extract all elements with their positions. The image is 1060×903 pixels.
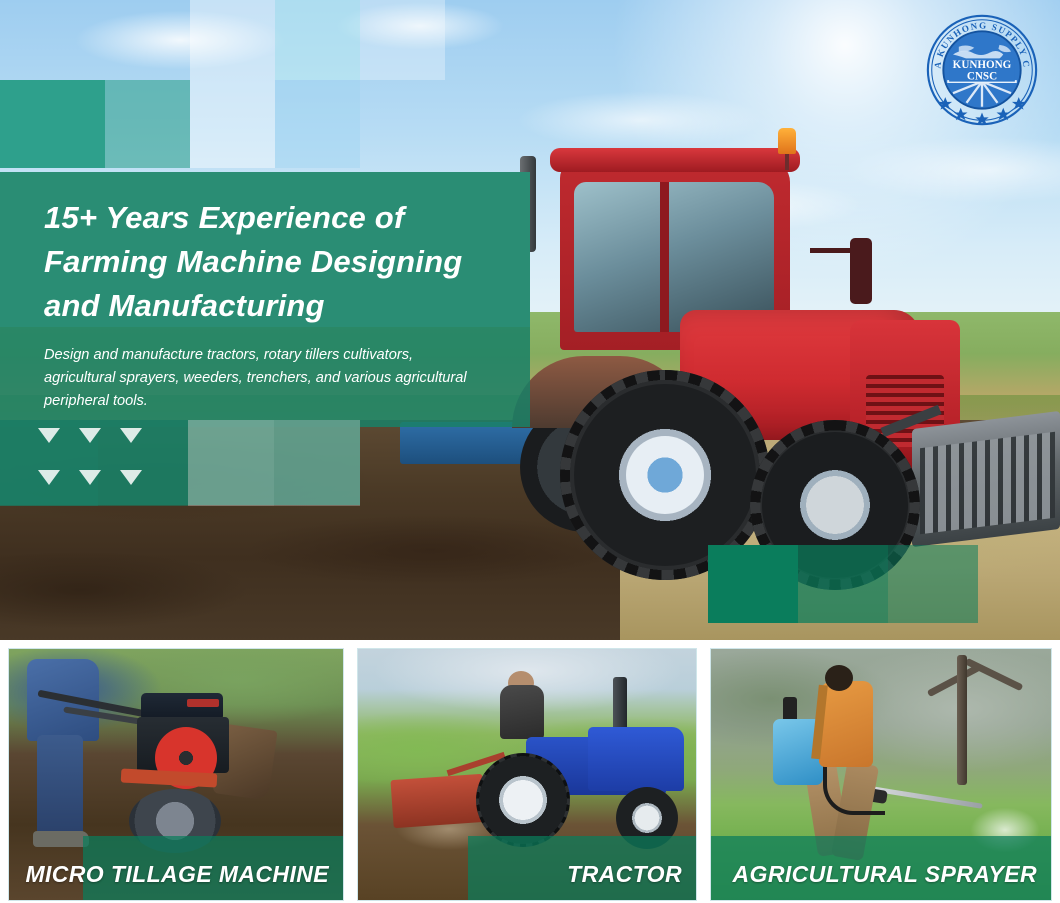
sprayer-operator-head bbox=[825, 665, 853, 691]
triangle-decoration-grid bbox=[38, 428, 161, 512]
product-card-micro-tillage-machine[interactable]: MICRO TILLAGE MACHINE bbox=[8, 648, 344, 901]
bottom-right-square-2 bbox=[798, 545, 888, 623]
headline-block: 15+ Years Experience of Farming Machine … bbox=[44, 196, 524, 328]
red-rotavator bbox=[390, 774, 485, 828]
tree-branch-left bbox=[927, 664, 981, 697]
triangle-marker-2 bbox=[79, 428, 101, 443]
hero-banner: 15+ Years Experience of Farming Machine … bbox=[0, 0, 1060, 640]
mosaic-decoration bbox=[0, 0, 1060, 200]
company-logo: KUNHONG CNSC CHINA KUNHONG SUPPLY CHAIN bbox=[924, 12, 1040, 128]
hero-subtext: Design and manufacture tractors, rotary … bbox=[44, 344, 484, 413]
product-card-tractor[interactable]: TRACTOR bbox=[357, 648, 697, 901]
bottom-right-square-1 bbox=[708, 545, 798, 623]
card-label-micro-tillage-machine: MICRO TILLAGE MACHINE bbox=[25, 861, 329, 888]
sprayer-hose bbox=[823, 765, 885, 815]
tree-trunk bbox=[957, 655, 967, 785]
mosaic-square-2 bbox=[105, 80, 190, 168]
card-label-tractor: TRACTOR bbox=[567, 861, 682, 888]
bottom-right-square-3 bbox=[888, 545, 978, 623]
card-label-agricultural-sprayer: AGRICULTURAL SPRAYER bbox=[733, 861, 1037, 888]
headline-line-2: Farming Machine Designing bbox=[44, 240, 524, 284]
product-card-row: MICRO TILLAGE MACHINE TRACTOR bbox=[0, 648, 1060, 903]
triangle-marker-1 bbox=[38, 428, 60, 443]
mosaic-square-1 bbox=[0, 80, 105, 168]
sprayer-lance bbox=[871, 786, 982, 808]
operator-legs bbox=[37, 735, 83, 839]
mosaic-square-3 bbox=[190, 0, 275, 168]
logo-center-line-2: CNSC bbox=[967, 71, 997, 83]
triangle-marker-4 bbox=[38, 470, 60, 485]
triangle-marker-5 bbox=[79, 470, 101, 485]
mosaic-square-4 bbox=[275, 0, 360, 80]
tiller-tank-stripe bbox=[187, 699, 219, 707]
sprayer-operator-torso bbox=[819, 681, 873, 767]
tractor-rear-wheel-hub bbox=[626, 436, 704, 514]
banner-page: 15+ Years Experience of Farming Machine … bbox=[0, 0, 1060, 903]
headline-line-3: and Manufacturing bbox=[44, 284, 524, 328]
operator-shoe bbox=[33, 831, 89, 847]
tractor-driver-torso bbox=[500, 685, 544, 739]
tractor-cab-pillar bbox=[660, 182, 669, 332]
soil-overlay-square-4 bbox=[274, 420, 360, 506]
tractor-side-mirror bbox=[850, 238, 872, 304]
blue-tractor-hood bbox=[588, 727, 684, 791]
headline-line-1: 15+ Years Experience of bbox=[44, 196, 524, 240]
triangle-marker-3 bbox=[120, 428, 142, 443]
logo-center-line-1: KUNHONG bbox=[953, 59, 1012, 71]
tractor-implement-ribs bbox=[920, 432, 1055, 535]
mosaic-square-5 bbox=[360, 0, 445, 80]
mosaic-square-6 bbox=[275, 80, 360, 168]
product-card-agricultural-sprayer[interactable]: AGRICULTURAL SPRAYER bbox=[710, 648, 1052, 901]
triangle-marker-6 bbox=[120, 470, 142, 485]
blue-tractor-rear-wheel-tread bbox=[476, 753, 570, 847]
tree-branch-right bbox=[965, 658, 1024, 691]
soil-overlay-square-3 bbox=[188, 420, 274, 506]
